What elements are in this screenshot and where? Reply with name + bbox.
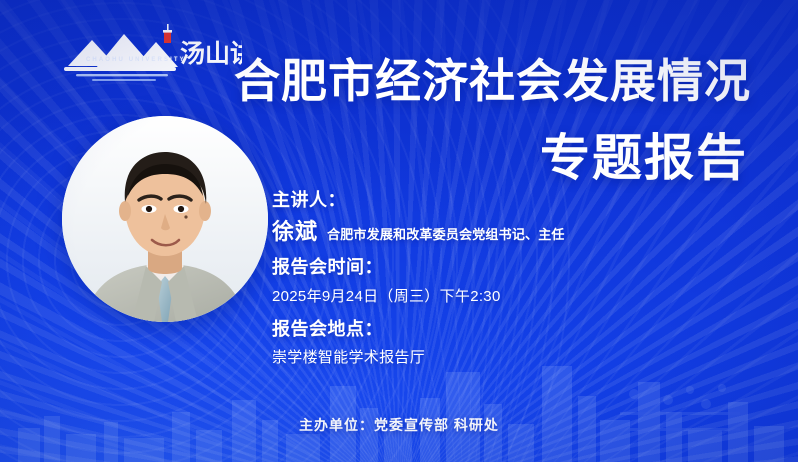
background-vignette <box>0 0 798 462</box>
lecture-poster: 汤山讲坛 CHAOHU UNIVERSITY <box>0 0 798 462</box>
